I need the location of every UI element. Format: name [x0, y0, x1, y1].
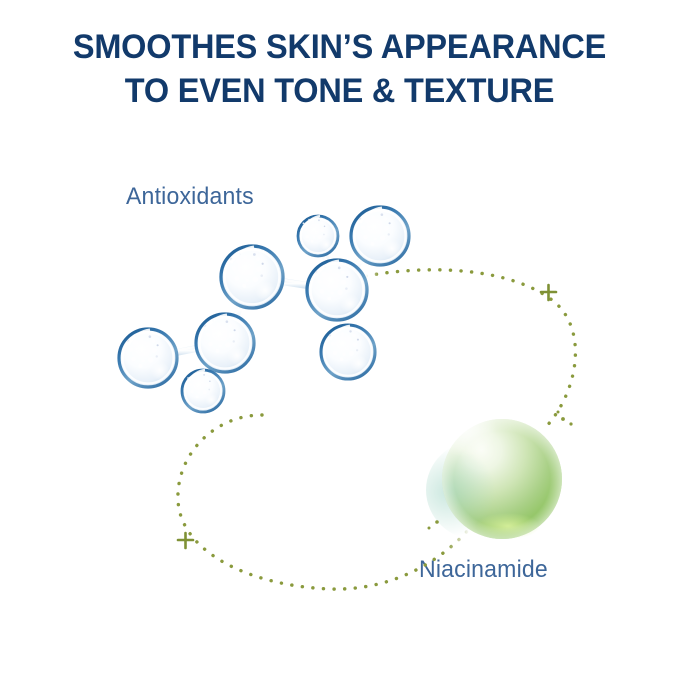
- niacinamide-sphere-graphic: [0, 0, 679, 679]
- infographic-canvas: SMOOTHES SKIN’S APPEARANCE TO EVEN TONE …: [0, 0, 679, 679]
- niacinamide-sphere-edge-glow: [442, 419, 562, 539]
